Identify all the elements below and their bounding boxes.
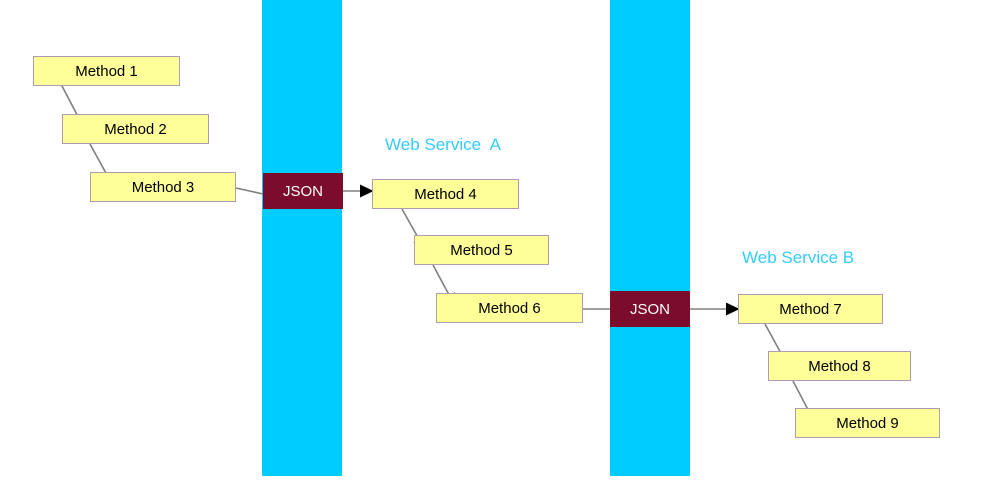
method-box-6-label: Method 6 xyxy=(478,301,541,316)
method-box-1-label: Method 1 xyxy=(75,64,138,79)
method-box-9[interactable]: Method 9 xyxy=(795,408,940,438)
method-box-5-label: Method 5 xyxy=(450,243,513,258)
json-box-b[interactable]: JSON xyxy=(610,291,690,327)
method-box-9-label: Method 9 xyxy=(836,416,899,431)
method-box-8-label: Method 8 xyxy=(808,359,871,374)
method-box-3-label: Method 3 xyxy=(132,180,195,195)
method-box-2-label: Method 2 xyxy=(104,122,167,137)
json-box-a-label: JSON xyxy=(283,184,323,199)
method-box-3[interactable]: Method 3 xyxy=(90,172,236,202)
method-box-1[interactable]: Method 1 xyxy=(33,56,180,86)
method-box-7-label: Method 7 xyxy=(779,302,842,317)
method-box-2[interactable]: Method 2 xyxy=(62,114,209,144)
method-box-6[interactable]: Method 6 xyxy=(436,293,583,323)
diagram-canvas: Method 1Method 2Method 3Method 4Method 5… xyxy=(0,0,996,482)
method-box-4[interactable]: Method 4 xyxy=(372,179,519,209)
node-layer: Method 1Method 2Method 3Method 4Method 5… xyxy=(0,0,996,482)
json-box-b-label: JSON xyxy=(630,302,670,317)
method-box-4-label: Method 4 xyxy=(414,187,477,202)
web-service-b-label: Web Service B xyxy=(742,249,854,266)
web-service-a-label: Web Service A xyxy=(385,136,501,153)
method-box-7[interactable]: Method 7 xyxy=(738,294,883,324)
json-box-a[interactable]: JSON xyxy=(263,173,343,209)
method-box-8[interactable]: Method 8 xyxy=(768,351,911,381)
method-box-5[interactable]: Method 5 xyxy=(414,235,549,265)
